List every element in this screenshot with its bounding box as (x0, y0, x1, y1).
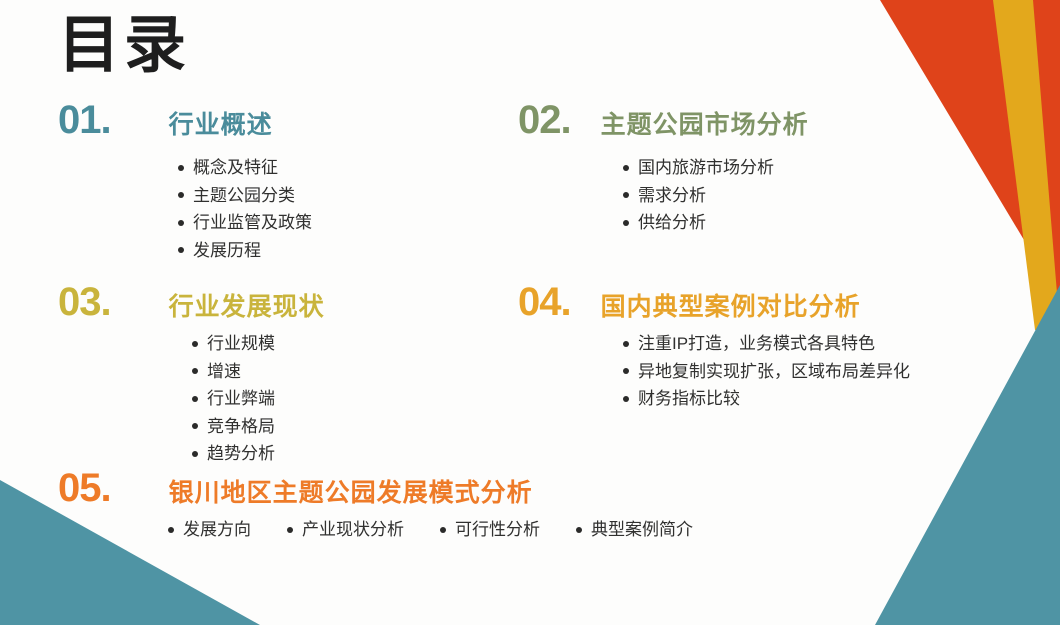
section-02-header: 02. 主题公园市场分析 (518, 100, 809, 140)
toc-section-02[interactable]: 02. 主题公园市场分析 国内旅游市场分析 需求分析 供给分析 (518, 100, 809, 237)
list-item[interactable]: 行业弊端 (192, 385, 325, 413)
section-04-bullets: 注重IP打造，业务模式各具特色 异地复制实现扩张，区域布局差异化 财务指标比较 (623, 330, 910, 413)
toc-section-03[interactable]: 03. 行业发展现状 行业规模 增速 行业弊端 竞争格局 趋势分析 (58, 282, 325, 468)
list-item-label: 趋势分析 (207, 440, 275, 468)
page-title: 目录 (58, 10, 190, 81)
list-item[interactable]: 供给分析 (623, 209, 809, 237)
list-item[interactable]: 发展历程 (178, 237, 312, 265)
bullet-dot-icon (178, 165, 184, 171)
bullet-dot-icon (623, 220, 629, 226)
decor-gold-diagonal-stripe (845, 0, 1060, 330)
section-05-header: 05. 银川地区主题公园发展模式分析 (58, 468, 693, 508)
bullet-dot-icon (623, 341, 629, 347)
section-02-number: 02. (518, 100, 571, 140)
list-item[interactable]: 趋势分析 (192, 440, 325, 468)
list-item-label: 可行性分析 (455, 516, 540, 544)
list-item-label: 增速 (207, 358, 241, 386)
list-item[interactable]: 异地复制实现扩张，区域布局差异化 (623, 358, 910, 386)
list-item-label: 行业监管及政策 (193, 209, 312, 237)
bullet-dot-icon (192, 368, 198, 374)
toc-section-01[interactable]: 01. 行业概述 概念及特征 主题公园分类 行业监管及政策 发展历程 (58, 100, 312, 264)
bullet-dot-icon (623, 396, 629, 402)
list-item-label: 发展历程 (193, 237, 261, 265)
section-01-number: 01. (58, 100, 111, 140)
bullet-dot-icon (168, 527, 174, 533)
list-item-label: 发展方向 (183, 516, 251, 544)
list-item[interactable]: 发展方向 (168, 516, 251, 544)
list-item[interactable]: 行业监管及政策 (178, 209, 312, 237)
list-item[interactable]: 需求分析 (623, 182, 809, 210)
bullet-dot-icon (440, 527, 446, 533)
list-item-label: 国内旅游市场分析 (638, 154, 774, 182)
list-item[interactable]: 典型案例简介 (576, 516, 693, 544)
list-item[interactable]: 竞争格局 (192, 413, 325, 441)
bullet-dot-icon (192, 423, 198, 429)
section-03-title: 行业发展现状 (169, 295, 325, 320)
list-item[interactable]: 可行性分析 (440, 516, 540, 544)
section-05-title: 银川地区主题公园发展模式分析 (169, 481, 533, 506)
list-item-label: 行业弊端 (207, 385, 275, 413)
list-item[interactable]: 注重IP打造，业务模式各具特色 (623, 330, 910, 358)
list-item-label: 供给分析 (638, 209, 706, 237)
bullet-dot-icon (178, 192, 184, 198)
section-04-number: 04. (518, 282, 571, 322)
section-02-bullets: 国内旅游市场分析 需求分析 供给分析 (623, 154, 809, 237)
toc-slide: 目录 01. 行业概述 概念及特征 主题公园分类 行业监管及政策 发展历程 (0, 0, 1060, 625)
list-item-label: 需求分析 (638, 182, 706, 210)
section-03-header: 03. 行业发展现状 (58, 282, 325, 322)
section-04-title: 国内典型案例对比分析 (601, 295, 861, 320)
list-item-label: 注重IP打造，业务模式各具特色 (638, 330, 875, 358)
list-item-label: 异地复制实现扩张，区域布局差异化 (638, 358, 910, 386)
list-item-label: 主题公园分类 (193, 182, 295, 210)
list-item[interactable]: 产业现状分析 (287, 516, 404, 544)
section-02-title: 主题公园市场分析 (601, 113, 809, 138)
toc-section-05[interactable]: 05. 银川地区主题公园发展模式分析 发展方向 产业现状分析 可行性分析 典型案… (58, 468, 693, 544)
list-item[interactable]: 国内旅游市场分析 (623, 154, 809, 182)
list-item[interactable]: 财务指标比较 (623, 385, 910, 413)
bullet-dot-icon (623, 368, 629, 374)
list-item-label: 财务指标比较 (638, 385, 740, 413)
section-05-number: 05. (58, 468, 111, 508)
bullet-dot-icon (576, 527, 582, 533)
list-item[interactable]: 主题公园分类 (178, 182, 312, 210)
list-item-label: 典型案例简介 (591, 516, 693, 544)
bullet-dot-icon (623, 192, 629, 198)
bullet-dot-icon (623, 165, 629, 171)
list-item[interactable]: 概念及特征 (178, 154, 312, 182)
list-item[interactable]: 行业规模 (192, 330, 325, 358)
list-item-label: 竞争格局 (207, 413, 275, 441)
bullet-dot-icon (178, 220, 184, 226)
bullet-dot-icon (178, 247, 184, 253)
section-03-number: 03. (58, 282, 111, 322)
section-05-bullets: 发展方向 产业现状分析 可行性分析 典型案例简介 (168, 516, 693, 544)
toc-section-04[interactable]: 04. 国内典型案例对比分析 注重IP打造，业务模式各具特色 异地复制实现扩张，… (518, 282, 910, 413)
decor-red-triangle (880, 0, 1060, 300)
bullet-dot-icon (192, 396, 198, 402)
section-01-header: 01. 行业概述 (58, 100, 312, 140)
bullet-dot-icon (192, 341, 198, 347)
list-item-label: 概念及特征 (193, 154, 278, 182)
section-04-header: 04. 国内典型案例对比分析 (518, 282, 910, 322)
section-03-bullets: 行业规模 增速 行业弊端 竞争格局 趋势分析 (192, 330, 325, 468)
bullet-dot-icon (287, 527, 293, 533)
bullet-dot-icon (192, 451, 198, 457)
list-item-label: 产业现状分析 (302, 516, 404, 544)
list-item[interactable]: 增速 (192, 358, 325, 386)
section-01-bullets: 概念及特征 主题公园分类 行业监管及政策 发展历程 (178, 154, 312, 264)
section-01-title: 行业概述 (169, 113, 273, 138)
list-item-label: 行业规模 (207, 330, 275, 358)
